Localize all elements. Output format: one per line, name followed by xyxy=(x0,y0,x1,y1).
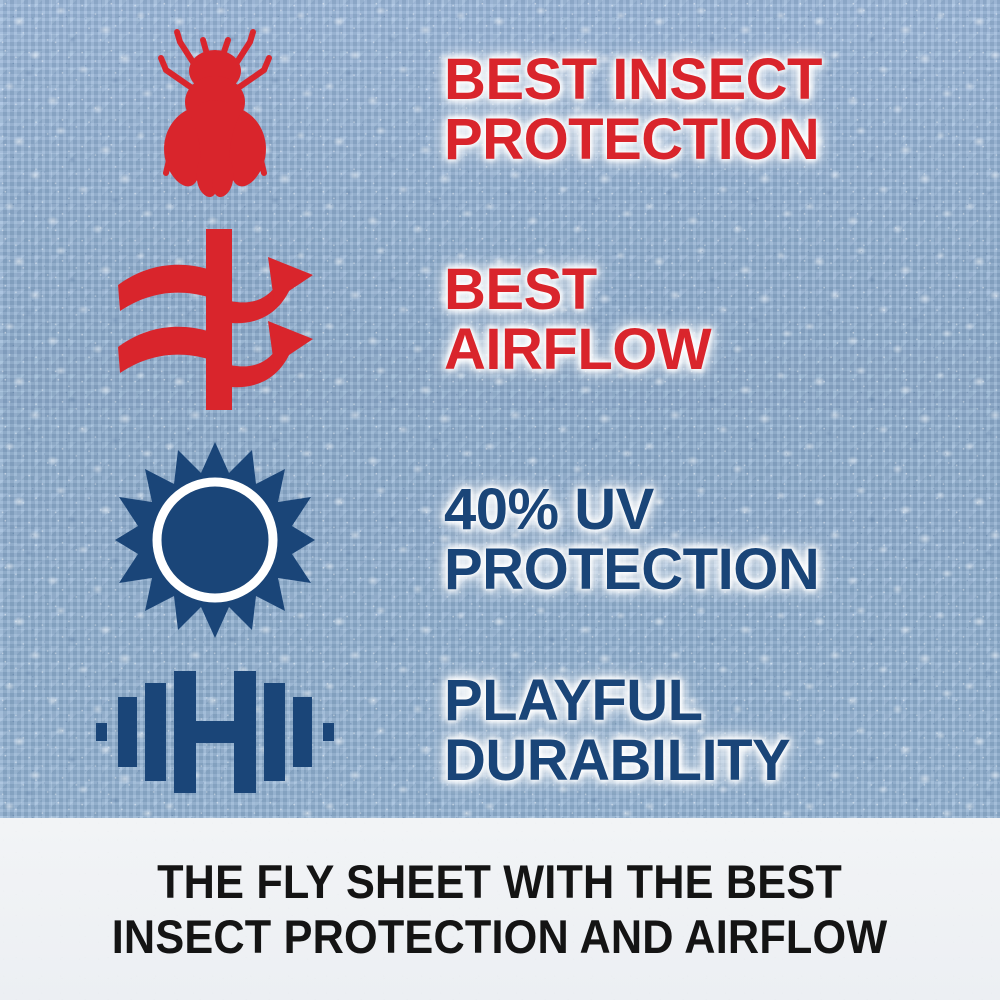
caption-bar: THE FLY SHEET WITH THE BEST INSECT PROTE… xyxy=(0,818,1000,1000)
sun-icon xyxy=(115,440,315,640)
dumbbell-icon xyxy=(90,661,340,801)
text-cell-durability: PLAYFUL DURABILITY xyxy=(430,671,1000,790)
feature-label-uv-protection: 40% UV PROTECTION xyxy=(444,480,1000,599)
feature-row-insect-protection: BEST INSECT PROTECTION xyxy=(0,10,1000,210)
feature-label-insect-protection: BEST INSECT PROTECTION xyxy=(444,50,1000,169)
text-cell-airflow: BEST AIRFLOW xyxy=(430,260,1000,379)
feature-row-uv-protection: 40% UV PROTECTION xyxy=(0,432,1000,648)
fly-icon xyxy=(140,18,290,203)
feature-row-airflow: BEST AIRFLOW xyxy=(0,222,1000,417)
feature-row-durability: PLAYFUL DURABILITY xyxy=(0,648,1000,813)
product-feature-poster: BEST INSECT PROTECTION xyxy=(0,0,1000,1000)
icon-cell-uv-protection xyxy=(0,440,430,640)
feature-label-durability: PLAYFUL DURABILITY xyxy=(444,671,1000,790)
airflow-through-barrier-icon xyxy=(108,227,323,412)
icon-cell-airflow xyxy=(0,227,430,412)
icon-cell-insect-protection xyxy=(0,18,430,203)
caption-text: THE FLY SHEET WITH THE BEST INSECT PROTE… xyxy=(96,854,905,965)
text-cell-insect-protection: BEST INSECT PROTECTION xyxy=(430,50,1000,169)
text-cell-uv-protection: 40% UV PROTECTION xyxy=(430,480,1000,599)
icon-cell-durability xyxy=(0,661,430,801)
feature-label-airflow: BEST AIRFLOW xyxy=(444,260,1000,379)
